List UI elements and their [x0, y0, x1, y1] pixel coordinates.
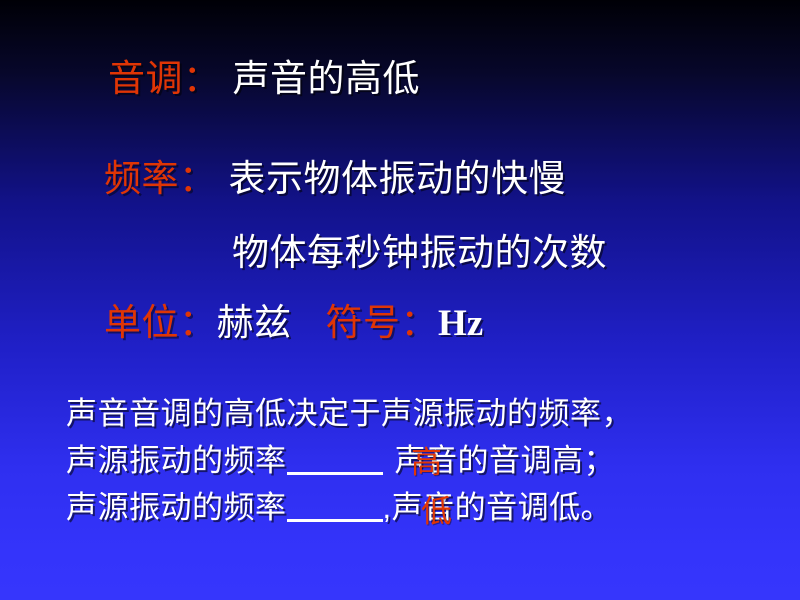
pitch-term: 音调	[108, 58, 183, 99]
answer-low: 低	[421, 486, 453, 531]
unit-value: 赫兹	[217, 302, 292, 343]
frequency-definition-row-2: 物体每秒钟振动的次数	[232, 222, 607, 276]
frequency-colon: ：	[179, 158, 217, 199]
symbol-value: Hz	[438, 303, 483, 344]
frequency-definition-line2: 物体每秒钟振动的次数	[232, 232, 607, 273]
paragraph-line-1-text: 声音音调的高低决定于声源振动的频率，	[66, 396, 633, 431]
paragraph-line-2: 声源振动的频率声音的音调高； 高	[66, 435, 796, 482]
symbol-colon: ：	[401, 302, 439, 343]
answer-high: 高	[411, 437, 443, 482]
paragraph-line-2-prefix: 声源振动的频率	[66, 443, 287, 478]
paragraph-line-3: 声源振动的频率,声音的音调低。 低	[66, 482, 796, 529]
answer-blank-low[interactable]	[287, 489, 383, 522]
pitch-definition: 声音的高低	[233, 58, 421, 99]
symbol-term: 符号	[326, 302, 401, 343]
paragraph-line-3-prefix: 声源振动的频率	[66, 490, 287, 525]
frequency-term: 频率	[104, 158, 179, 199]
frequency-definition-line1: 表示物体振动的快慢	[229, 158, 567, 199]
fill-in-blank-paragraph: 声音音调的高低决定于声源振动的频率， 声源振动的频率声音的音调高； 高 声源振动…	[66, 388, 796, 529]
answer-blank-high[interactable]	[287, 442, 383, 475]
pitch-definition-row: 音调：声音的高低	[108, 48, 420, 102]
unit-symbol-row: 单位：赫兹符号：Hz	[104, 292, 483, 346]
frequency-definition-row: 频率：表示物体振动的快慢	[104, 148, 566, 202]
slide-canvas: 音调：声音的高低 频率：表示物体振动的快慢 物体每秒钟振动的次数 单位：赫兹符号…	[0, 0, 800, 600]
paragraph-line-1: 声音音调的高低决定于声源振动的频率，	[66, 388, 796, 435]
unit-term: 单位	[104, 302, 179, 343]
paragraph-line-3-comma: ,	[383, 490, 392, 525]
pitch-colon: ：	[183, 58, 221, 99]
unit-colon: ：	[179, 302, 217, 343]
